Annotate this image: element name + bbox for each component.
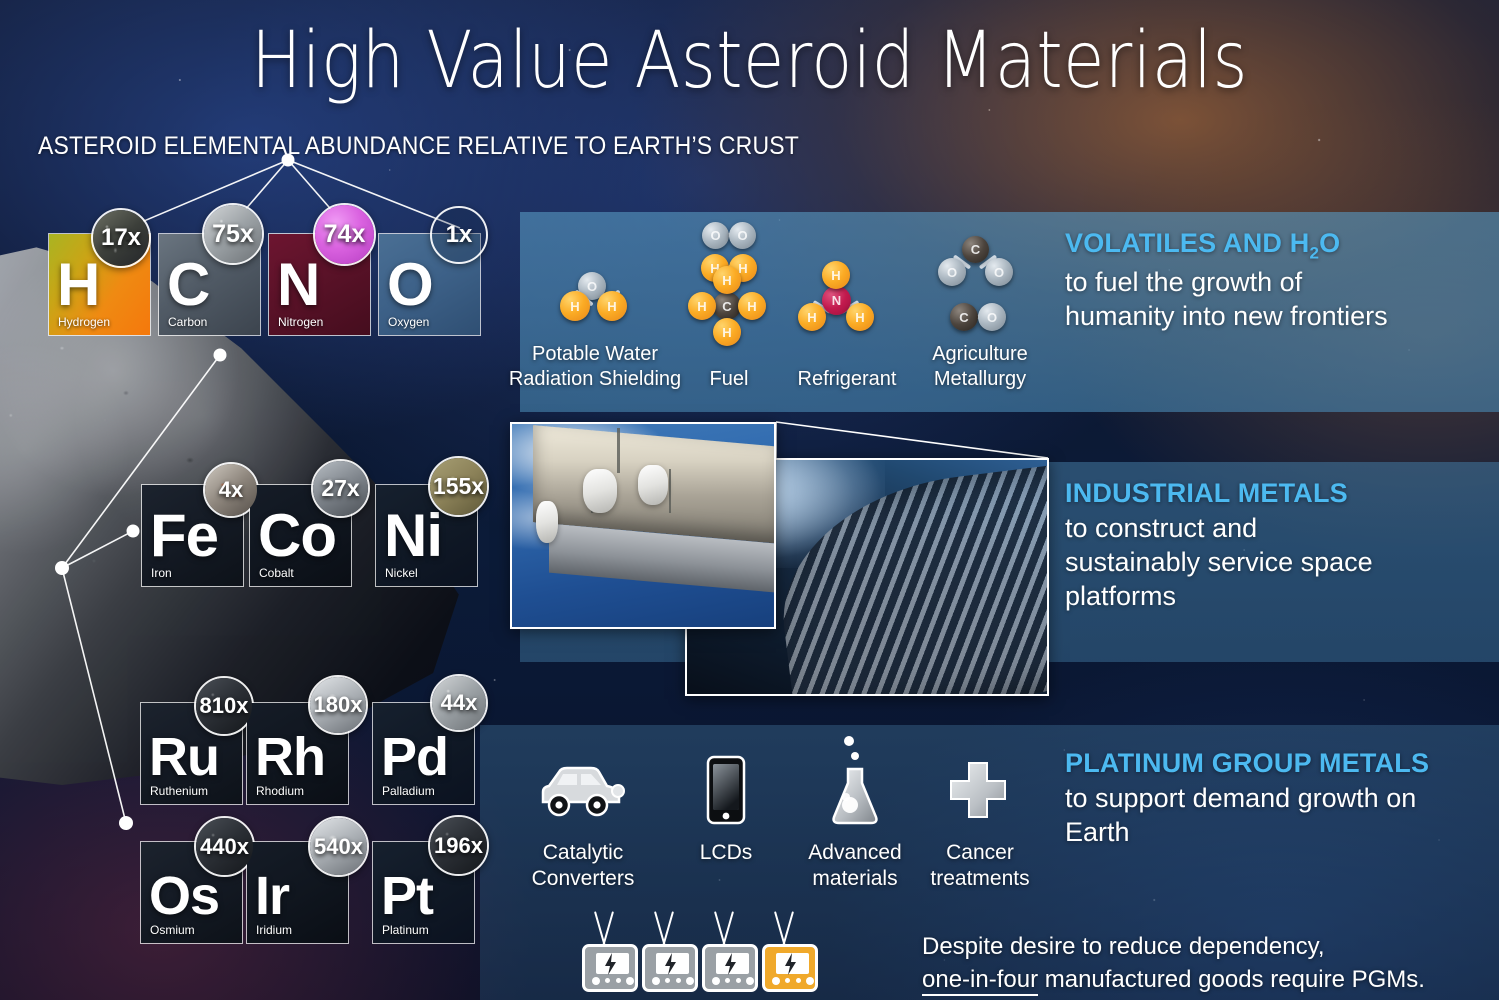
device-dots [592, 976, 634, 985]
multiplier-badge-ruthenium: 810x [194, 676, 254, 736]
device-dots [772, 976, 814, 985]
equipment-bag [583, 469, 617, 513]
multiplier-value: 440x [200, 834, 249, 860]
section-heading-industrial: INDUSTRIAL METALS [1065, 478, 1495, 509]
section-body-line: Earth [1065, 815, 1495, 849]
footnote-text: Despite desire to reduce dependency, one… [922, 930, 1492, 996]
footnote-line-2: one-in-four manufactured goods require P… [922, 963, 1492, 996]
multiplier-badge-carbon: 75x [202, 203, 264, 265]
footnote-rest: manufactured goods require PGMs. [1038, 966, 1425, 993]
multiplier-value: 27x [321, 475, 359, 502]
label-line: Advanced [790, 840, 920, 866]
label-line: Catalytic [508, 840, 658, 866]
label-line: Converters [508, 866, 658, 892]
device-screen [716, 953, 749, 974]
device-icon-2 [642, 944, 698, 992]
multiplier-badge-palladium: 44x [430, 674, 488, 732]
multiplier-badge-iron: 4x [203, 462, 259, 518]
multiplier-value: 180x [314, 692, 363, 718]
label-line: LCDs [666, 840, 786, 866]
device-icon-1 [582, 944, 638, 992]
section-body-line: sustainably service space [1065, 545, 1495, 579]
device-icon-4-highlighted [762, 944, 818, 992]
multiplier-value: 4x [219, 477, 243, 503]
multiplier-badge-osmium: 440x [194, 816, 255, 877]
iss-strut [669, 469, 671, 514]
multiplier-value: 1x [446, 221, 473, 249]
pgm-use-label-lcds: LCDs [666, 840, 786, 866]
device-screen [596, 953, 629, 974]
device-dots [652, 976, 694, 985]
label-line: treatments [915, 866, 1045, 892]
multiplier-value: 155x [433, 473, 484, 500]
multiplier-badge-oxygen: 1x [430, 206, 488, 264]
device-dots [712, 976, 754, 985]
multiplier-badge-nitrogen: 74x [313, 203, 376, 266]
section-heading-pgm: PLATINUM GROUP METALS [1065, 748, 1495, 779]
multiplier-badge-cobalt: 27x [311, 459, 370, 518]
multiplier-value: 540x [314, 834, 363, 860]
multiplier-badge-platinum: 196x [428, 815, 489, 876]
equipment-bag [638, 465, 668, 505]
device-screen [656, 953, 689, 974]
label-line: Cancer [915, 840, 1045, 866]
device-screen [776, 953, 809, 974]
label-line: materials [790, 866, 920, 892]
multiplier-value: 17x [101, 224, 141, 252]
pgm-use-label-catalytic: Catalytic Converters [508, 840, 658, 892]
infographic-root: High Value Asteroid Materials ASTEROID E… [0, 0, 1499, 1000]
iss-antenna [617, 428, 620, 473]
multiplier-value: 196x [434, 833, 483, 859]
photo-iss-spacewalk [510, 422, 776, 629]
multiplier-value: 75x [212, 220, 254, 249]
phone-icon [706, 755, 746, 825]
multiplier-badge-iridium: 540x [308, 816, 369, 877]
flask-icon [822, 735, 888, 827]
footnote-line-1: Despite desire to reduce dependency, [922, 930, 1492, 963]
multiplier-badge-nickel: 155x [428, 456, 489, 517]
pgm-use-label-advanced: Advanced materials [790, 840, 920, 892]
section-body-line: to construct and [1065, 511, 1495, 545]
section-copy-pgm: PLATINUM GROUP METALS to support demand … [1065, 748, 1495, 849]
multiplier-value: 810x [200, 693, 249, 719]
multiplier-value: 44x [441, 690, 478, 716]
multiplier-badge-hydrogen: 17x [91, 208, 151, 268]
section-body-line: platforms [1065, 579, 1495, 613]
multiplier-badge-rhodium: 180x [308, 675, 368, 735]
device-icon-3 [702, 944, 758, 992]
footnote-emphasis: one-in-four [922, 966, 1038, 996]
multiplier-value: 74x [324, 220, 366, 249]
section-body-line: to support demand growth on [1065, 781, 1495, 815]
car-icon [533, 762, 629, 820]
astronaut-figure [536, 501, 558, 543]
pgm-use-label-cancer: Cancer treatments [915, 840, 1045, 892]
medical-cross-icon [942, 757, 1014, 825]
section-copy-industrial: INDUSTRIAL METALS to construct and susta… [1065, 478, 1495, 613]
